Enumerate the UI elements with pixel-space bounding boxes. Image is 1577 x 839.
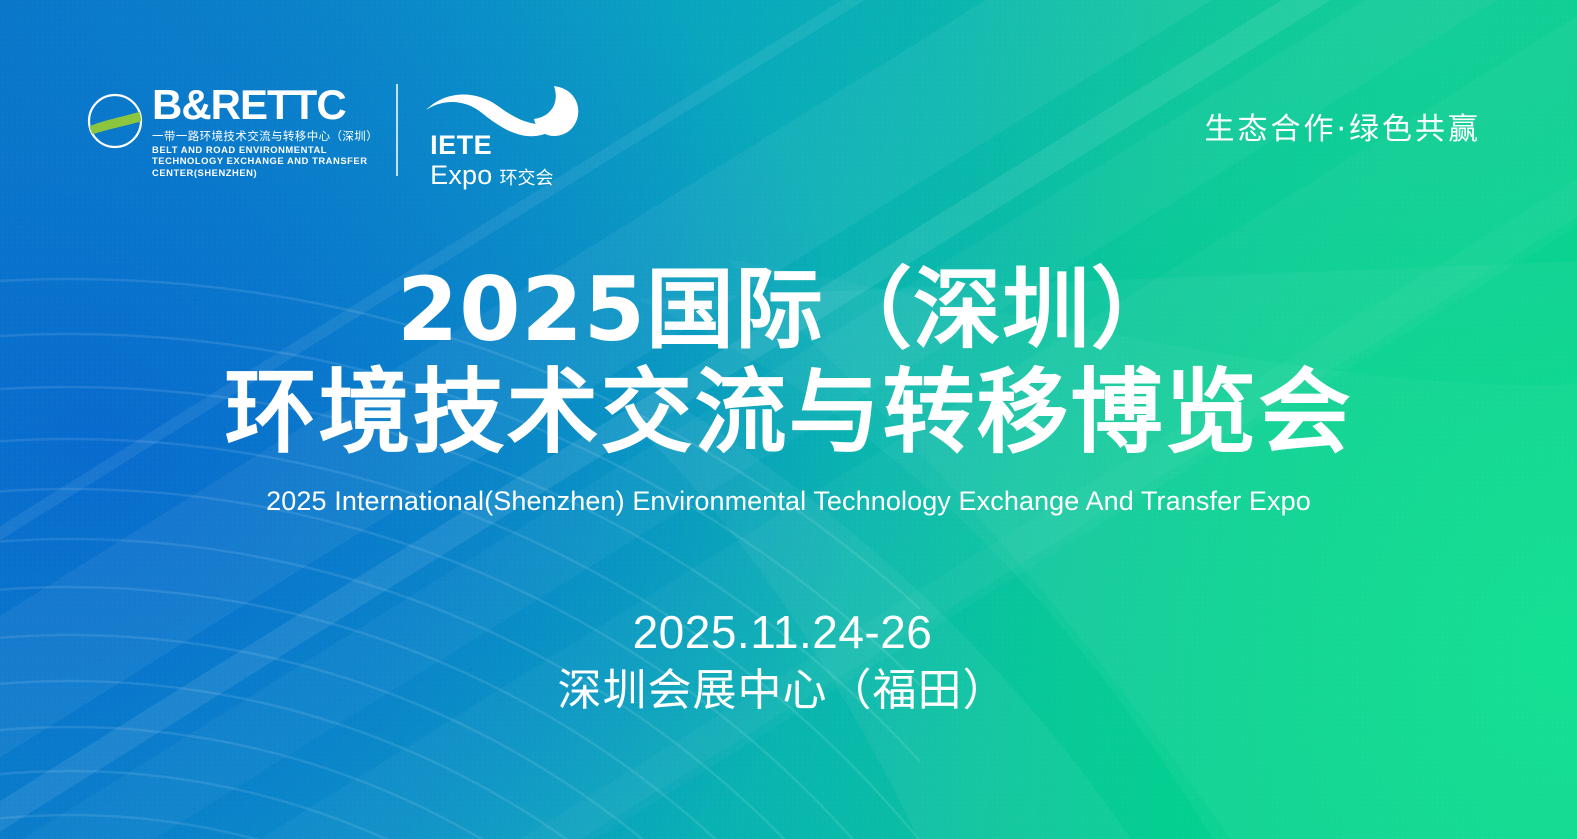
iete-acronym: IETE	[430, 132, 553, 159]
brettc-logo: B&RETTC 一带一路环境技术交流与转移中心（深圳） BELT AND ROA…	[86, 84, 398, 176]
banner-content: B&RETTC 一带一路环境技术交流与转移中心（深圳） BELT AND ROA…	[0, 0, 1577, 839]
iete-text: IETE Expo 环交会	[430, 132, 553, 194]
title-line-1: 2025国际（深圳）	[0, 262, 1577, 358]
brettc-name-en-line1: BELT AND ROAD ENVIRONMENTAL	[152, 144, 378, 155]
logo-row: B&RETTC 一带一路环境技术交流与转移中心（深圳） BELT AND ROA…	[86, 84, 590, 184]
iete-name-cn: 环交会	[499, 164, 553, 194]
brettc-name-en-line2: TECHNOLOGY EXCHANGE AND TRANSFER	[152, 155, 378, 166]
iete-expo-logo: IETE Expo 环交会	[422, 84, 590, 184]
event-details: 2025.11.24-26 深圳会展中心（福田）	[0, 604, 1577, 722]
title-line-2: 环境技术交流与转移博览会	[0, 362, 1577, 464]
subtitle-english: 2025 International(Shenzhen) Environment…	[0, 484, 1577, 518]
iete-subtitle-row: Expo 环交会	[430, 160, 553, 194]
brettc-name-cn: 一带一路环境技术交流与转移中心（深圳）	[152, 129, 378, 143]
brettc-name-en: BELT AND ROAD ENVIRONMENTAL TECHNOLOGY E…	[152, 144, 378, 178]
event-date: 2025.11.24-26	[0, 604, 1565, 660]
brettc-wordmark: B&RETTC	[152, 84, 378, 126]
iete-expo-word: Expo	[430, 160, 492, 190]
brettc-name-en-line3: CENTER(SHENZHEN)	[152, 167, 378, 178]
event-venue: 深圳会展中心（福田）	[0, 660, 1565, 722]
brettc-text: B&RETTC 一带一路环境技术交流与转移中心（深圳） BELT AND ROA…	[152, 84, 378, 178]
title-block: 2025国际（深圳） 环境技术交流与转移博览会 2025 Internation…	[0, 262, 1577, 518]
event-banner: B&RETTC 一带一路环境技术交流与转移中心（深圳） BELT AND ROA…	[0, 0, 1577, 839]
slogan: 生态合作·绿色共赢	[1204, 104, 1481, 148]
globe-icon	[86, 92, 144, 150]
